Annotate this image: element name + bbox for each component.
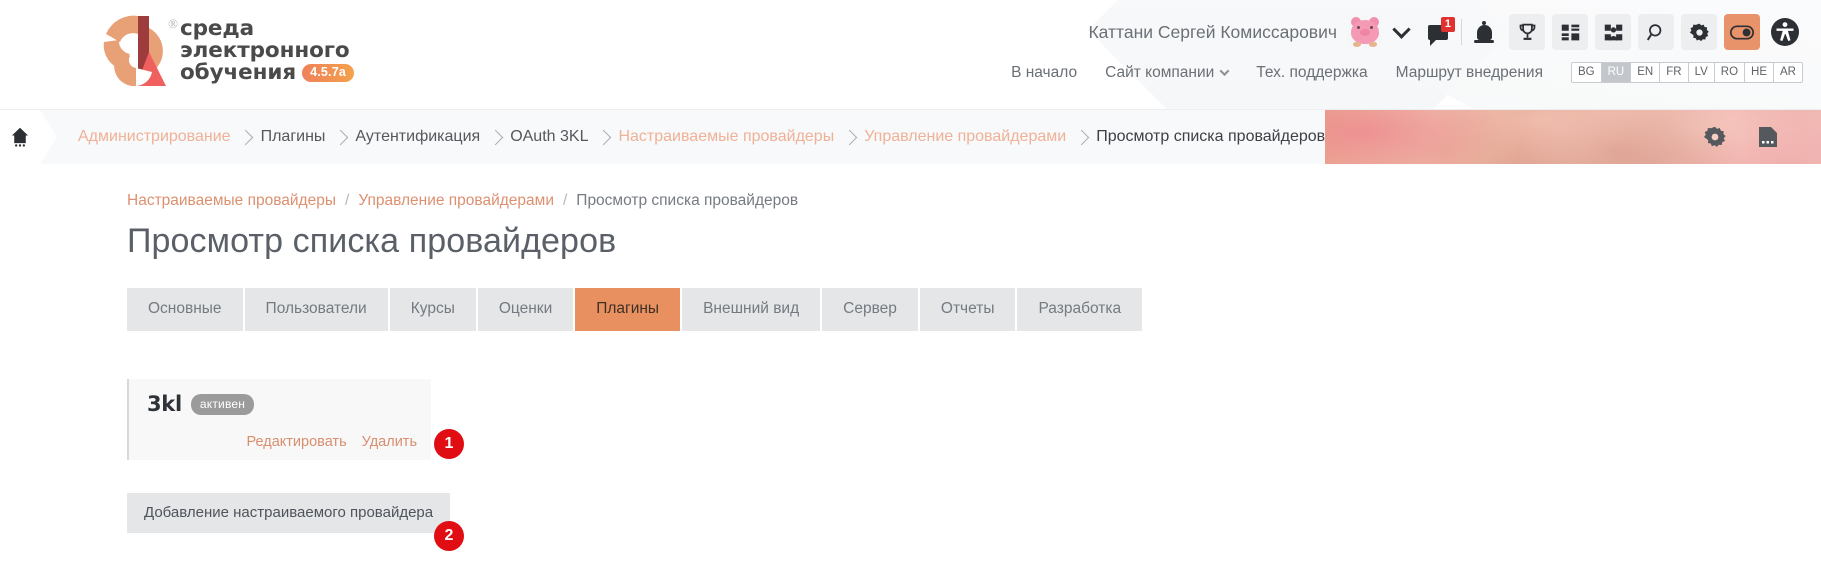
site-logo[interactable]: ® среда электронного обучения 4.5.7а bbox=[96, 12, 354, 90]
version-badge: 4.5.7а bbox=[302, 64, 354, 82]
logo-line-3: обучения bbox=[180, 62, 296, 84]
page-header: ® среда электронного обучения 4.5.7а Кат… bbox=[0, 0, 1821, 110]
gear-icon[interactable] bbox=[1703, 125, 1727, 149]
tab-development[interactable]: Разработка bbox=[1017, 288, 1142, 331]
language-bg[interactable]: BG bbox=[1572, 63, 1602, 82]
page-icon[interactable] bbox=[1757, 125, 1779, 149]
main-content: Настраиваемые провайдеры / Управление пр… bbox=[0, 164, 1821, 533]
nav-item-company-site[interactable]: Сайт компании bbox=[1091, 64, 1242, 82]
user-grid-button[interactable] bbox=[1595, 14, 1631, 50]
breadcrumb-trail: Администрирование Плагины Аутентификация… bbox=[40, 110, 1325, 164]
sub-breadcrumb-item-view-providers: Просмотр списка провайдеров bbox=[576, 192, 798, 210]
provider-card-header: 3kl активен bbox=[147, 392, 417, 416]
search-button[interactable] bbox=[1638, 14, 1674, 50]
tab-appearance[interactable]: Внешний вид bbox=[682, 288, 820, 331]
breadcrumb-separator-icon bbox=[231, 132, 261, 143]
user-name: Каттани Сергей Комиссарович bbox=[1088, 22, 1337, 43]
message-count-badge: 1 bbox=[1441, 17, 1455, 32]
header-nav: В начало Сайт компании Тех. поддержка Ма… bbox=[997, 62, 1803, 83]
registered-mark: ® bbox=[168, 16, 178, 32]
tab-grades[interactable]: Оценки bbox=[478, 288, 573, 331]
language-he[interactable]: HE bbox=[1745, 63, 1774, 82]
avatar[interactable] bbox=[1347, 14, 1383, 50]
breadcrumb-item-plugins[interactable]: Плагины bbox=[261, 128, 326, 146]
notifications-button[interactable] bbox=[1466, 14, 1502, 50]
tab-reports[interactable]: Отчеты bbox=[920, 288, 1016, 331]
language-ru[interactable]: RU bbox=[1602, 63, 1632, 82]
breadcrumb-item-manage-providers[interactable]: Управление провайдерами bbox=[864, 128, 1066, 146]
annotation-marker-2: 2 bbox=[434, 521, 464, 551]
grid-icon bbox=[1560, 22, 1581, 43]
notifications-bell-icon bbox=[1477, 25, 1492, 40]
tab-courses[interactable]: Курсы bbox=[390, 288, 476, 331]
dashboard-grid-button[interactable] bbox=[1552, 14, 1588, 50]
page-title: Просмотр списка провайдеров bbox=[127, 222, 1821, 261]
toolbar-divider bbox=[1461, 19, 1462, 45]
breadcrumb-separator-icon bbox=[480, 132, 510, 143]
banner-icon-group bbox=[1703, 110, 1779, 164]
edit-provider-link[interactable]: Редактировать bbox=[246, 434, 346, 450]
breadcrumb-item-custom-providers[interactable]: Настраиваемые провайдеры bbox=[618, 128, 834, 146]
user-grid-icon bbox=[1603, 22, 1624, 43]
logo-line-2: электронного bbox=[180, 40, 354, 62]
status-badge: активен bbox=[191, 394, 254, 415]
search-icon bbox=[1646, 22, 1667, 43]
breadcrumb-item-oauth3kl[interactable]: OAuth 3KL bbox=[510, 128, 588, 146]
language-en[interactable]: EN bbox=[1631, 63, 1660, 82]
nav-item-home[interactable]: В начало bbox=[997, 64, 1091, 82]
language-fr[interactable]: FR bbox=[1660, 63, 1688, 82]
sub-breadcrumb-separator: / bbox=[563, 192, 567, 210]
display-mode-toggle[interactable] bbox=[1724, 14, 1760, 50]
gear-icon bbox=[1689, 22, 1710, 43]
breadcrumb-separator-icon bbox=[588, 132, 618, 143]
nav-item-label: Тех. поддержка bbox=[1256, 64, 1367, 82]
secondary-breadcrumb: Настраиваемые провайдеры / Управление пр… bbox=[127, 164, 1821, 210]
breadcrumb-item-view-providers: Просмотр списка провайдеров bbox=[1096, 128, 1325, 146]
sub-breadcrumb-item-custom-providers[interactable]: Настраиваемые провайдеры bbox=[127, 192, 336, 210]
tab-users[interactable]: Пользователи bbox=[245, 288, 388, 331]
trophy-icon bbox=[1517, 22, 1538, 43]
breadcrumb-item-authentication[interactable]: Аутентификация bbox=[355, 128, 480, 146]
provider-card-actions: Редактировать Удалить bbox=[147, 434, 417, 450]
decorative-banner bbox=[1325, 110, 1821, 164]
trophy-button[interactable] bbox=[1509, 14, 1545, 50]
annotation-marker-1: 1 bbox=[434, 429, 464, 459]
toggle-switch-icon bbox=[1730, 25, 1754, 40]
logo-mark-icon: ® bbox=[96, 12, 172, 90]
delete-provider-link[interactable]: Удалить bbox=[362, 434, 417, 450]
chevron-down-icon bbox=[1392, 20, 1410, 38]
sub-breadcrumb-item-manage-providers[interactable]: Управление провайдерами bbox=[358, 192, 554, 210]
language-ar[interactable]: AR bbox=[1774, 63, 1802, 82]
nav-item-implementation-route[interactable]: Маршрут внедрения bbox=[1382, 64, 1557, 82]
tab-server[interactable]: Сервер bbox=[822, 288, 918, 331]
breadcrumb-bar: Администрирование Плагины Аутентификация… bbox=[0, 110, 1821, 164]
breadcrumb-item-administration[interactable]: Администрирование bbox=[78, 128, 231, 146]
settings-button[interactable] bbox=[1681, 14, 1717, 50]
accessibility-icon bbox=[1770, 17, 1800, 47]
logo-line-1: среда bbox=[180, 18, 354, 40]
home-icon bbox=[10, 127, 30, 147]
messages-button[interactable]: 1 bbox=[1419, 14, 1457, 50]
language-lv[interactable]: LV bbox=[1689, 63, 1715, 82]
breadcrumb-separator-icon bbox=[325, 132, 355, 143]
header-user-toolbar: Каттани Сергей Комиссарович 1 bbox=[1088, 14, 1803, 50]
user-menu-toggle[interactable] bbox=[1383, 14, 1419, 50]
nav-item-support[interactable]: Тех. поддержка bbox=[1242, 64, 1381, 82]
breadcrumb-home-button[interactable] bbox=[0, 110, 40, 164]
chevron-down-icon bbox=[1220, 66, 1230, 76]
accessibility-button[interactable] bbox=[1767, 14, 1803, 50]
tab-general[interactable]: Основные bbox=[127, 288, 243, 331]
provider-name: 3kl bbox=[147, 392, 182, 416]
tab-plugins[interactable]: Плагины bbox=[575, 288, 680, 331]
logo-text: среда электронного обучения 4.5.7а bbox=[180, 18, 354, 84]
nav-item-label: Маршрут внедрения bbox=[1396, 64, 1543, 82]
breadcrumb-separator-icon bbox=[1066, 132, 1096, 143]
language-selector: BG RU EN FR LV RO HE AR bbox=[1571, 62, 1803, 83]
language-ro[interactable]: RO bbox=[1715, 63, 1745, 82]
nav-item-label: Сайт компании bbox=[1105, 64, 1214, 82]
breadcrumb-separator-icon bbox=[834, 132, 864, 143]
sub-breadcrumb-separator: / bbox=[345, 192, 349, 210]
add-custom-provider-button[interactable]: Добавление настраиваемого провайдера bbox=[127, 493, 450, 533]
settings-tab-bar: Основные Пользователи Курсы Оценки Плаги… bbox=[127, 288, 1821, 331]
provider-card: 3kl активен Редактировать Удалить bbox=[127, 379, 431, 460]
nav-item-label: В начало bbox=[1011, 64, 1077, 82]
